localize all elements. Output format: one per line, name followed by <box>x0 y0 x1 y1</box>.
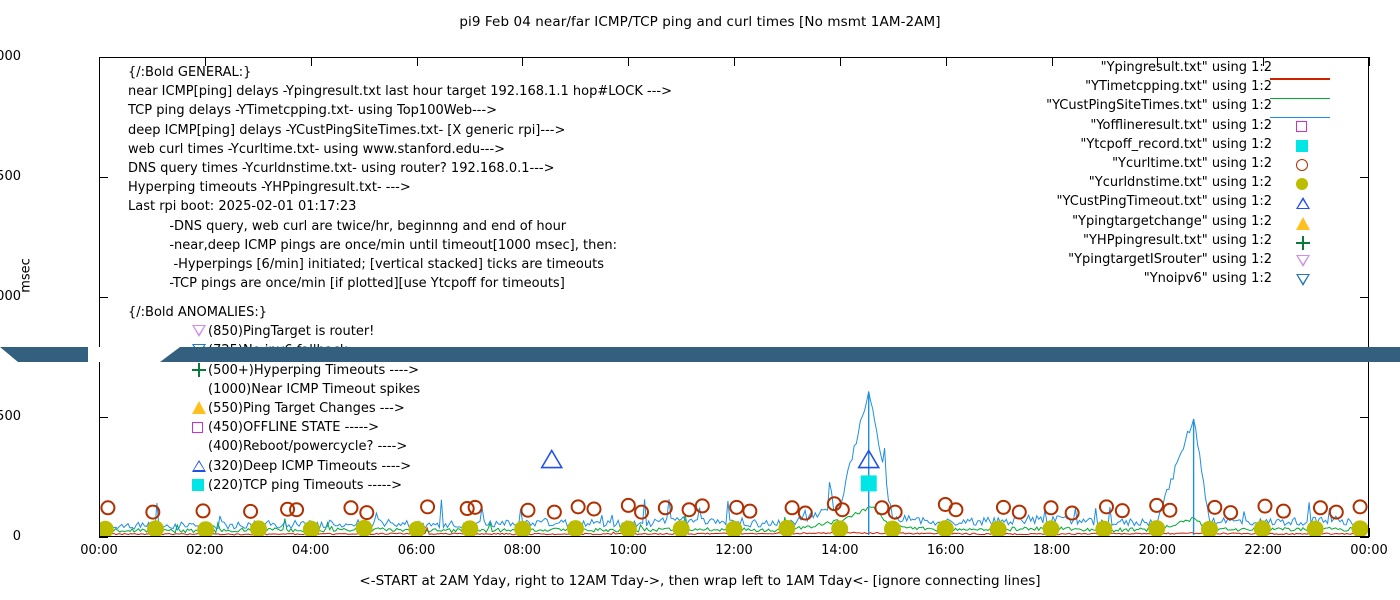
y-tick-label: 500 <box>0 409 21 424</box>
general-line: TCP ping delays -YTimetcpping.txt- using… <box>128 101 672 120</box>
general-line: -Hyperpings [6/min] initiated; [vertical… <box>128 255 672 274</box>
triangle-up-filled-icon <box>192 401 206 414</box>
data-marker-circle-filled <box>147 520 164 536</box>
general-line: DNS query times -Ycurldnstime.txt- using… <box>128 159 672 178</box>
legend-symbol <box>1270 118 1330 137</box>
legend-entry[interactable]: "Yofflineresult.txt" using 1:2 <box>960 118 1360 137</box>
general-line: Hyperping timeouts -YHPpingresult.txt- -… <box>128 178 672 197</box>
x-tick-label: 08:00 <box>482 543 562 558</box>
x-tick-label: 10:00 <box>588 543 668 558</box>
data-marker-circle-open <box>997 501 1010 514</box>
chart-legend: "Ypingresult.txt" using 1:2"YTimetcpping… <box>960 60 1360 290</box>
anomalies-heading: {/:Bold ANOMALIES:} <box>128 303 420 322</box>
chart-title: pi9 Feb 04 near/far ICMP/TCP ping and cu… <box>0 14 1400 30</box>
legend-symbol <box>1270 214 1330 233</box>
data-marker-circle-open <box>875 501 888 514</box>
y-tick-mark <box>99 537 108 538</box>
data-marker-circle-filled <box>1352 520 1368 536</box>
x-tick-label: 20:00 <box>1117 543 1197 558</box>
triangle-down-open-icon <box>1296 255 1310 267</box>
legend-entry[interactable]: "Ynoipv6" using 1:2 <box>960 271 1360 290</box>
data-marker-circle-open <box>1224 506 1237 519</box>
legend-entry[interactable]: "YCustPingSiteTimes.txt" using 1:2 <box>960 98 1360 117</box>
general-line: -near,deep ICMP pings are once/min until… <box>128 236 672 255</box>
data-marker-circle-open <box>1277 505 1290 518</box>
data-marker-circle-filled <box>1307 521 1324 536</box>
data-marker-circle-open <box>622 499 635 512</box>
data-marker-circle-open <box>290 503 303 516</box>
x-tick-label: 16:00 <box>906 543 986 558</box>
plus-icon <box>1296 236 1310 250</box>
data-marker-circle-open <box>1258 500 1271 513</box>
x-tick-label: 12:00 <box>694 543 774 558</box>
anomalies-annotation-block: {/:Bold ANOMALIES:} (850)PingTarget is r… <box>128 303 420 495</box>
general-line: web curl times -Ycurltime.txt- using www… <box>128 140 672 159</box>
chart-page: pi9 Feb 04 near/far ICMP/TCP ping and cu… <box>0 0 1400 600</box>
plus-icon <box>192 363 206 377</box>
data-marker-circle-filled <box>884 521 901 536</box>
legend-label: "YpingtargetISrouter" using 1:2 <box>1068 252 1272 267</box>
legend-entry[interactable]: "Ypingresult.txt" using 1:2 <box>960 60 1360 79</box>
data-marker-circle-open <box>344 501 357 514</box>
legend-symbol <box>1270 233 1330 252</box>
legend-label: "YHPpingresult.txt" using 1:2 <box>1083 233 1272 248</box>
data-marker-circle-open <box>1163 504 1176 517</box>
data-marker-square-filled <box>861 475 877 491</box>
data-marker-circle-open <box>730 501 743 514</box>
data-marker-circle-open <box>548 506 561 519</box>
data-marker-circle-open <box>889 506 902 519</box>
data-marker-circle-open <box>421 500 434 513</box>
legend-symbol <box>1270 252 1330 271</box>
data-marker-circle-open <box>1116 504 1129 517</box>
anomaly-symbol <box>192 478 204 497</box>
anomaly-text: (320)Deep ICMP Timeouts ----> <box>208 459 411 474</box>
data-marker-circle-filled <box>831 520 848 536</box>
anomaly-text: (725)No ipv6 fallback <box>208 343 347 358</box>
legend-label: "Ytcpoff_record.txt" using 1:2 <box>1080 137 1272 152</box>
circle-open-icon <box>1296 159 1308 171</box>
x-tick-label: 14:00 <box>800 543 880 558</box>
data-marker-circle-open <box>743 505 756 518</box>
data-marker-circle-open <box>197 504 210 517</box>
data-marker-circle-filled <box>1148 520 1165 536</box>
y-tick-mark <box>1360 537 1369 538</box>
anomaly-text: (1000)Near ICMP Timeout spikes <box>208 382 420 397</box>
legend-entry[interactable]: "YCustPingTimeout.txt" using 1:2 <box>960 194 1360 213</box>
data-marker-circle-open <box>786 501 799 514</box>
data-marker-circle-open <box>587 502 600 515</box>
data-marker-circle-filled <box>1043 520 1060 536</box>
data-marker-circle-open <box>244 505 257 518</box>
data-marker-circle-open <box>1354 500 1367 513</box>
anomaly-row: (1000)Near ICMP Timeout spikes <box>128 380 420 399</box>
legend-label: "Ycurldnstime.txt" using 1:2 <box>1089 175 1272 190</box>
legend-label: "YTimetcpping.txt" using 1:2 <box>1085 79 1272 94</box>
x-axis-title: <-START at 2AM Yday, right to 12AM Tday-… <box>0 573 1400 589</box>
x-tick-label: 22:00 <box>1223 543 1303 558</box>
circle-filled-icon <box>1296 178 1308 190</box>
x-tick-mark <box>1369 57 1370 66</box>
square-open-icon <box>192 422 203 433</box>
data-marker-circle-open <box>469 501 482 514</box>
legend-symbol <box>1270 137 1330 156</box>
data-marker-circle-filled <box>356 520 373 536</box>
legend-symbol <box>1270 98 1330 117</box>
data-marker-circle-open <box>360 506 373 519</box>
anomaly-row: (850)PingTarget is router! <box>128 322 420 341</box>
anomaly-text: (400)Reboot/powercycle? ----> <box>208 439 407 454</box>
x-tick-label: 00:00 <box>1329 543 1400 558</box>
x-tick-mark <box>1369 528 1370 537</box>
data-marker-circle-filled <box>567 520 584 536</box>
square-filled-icon <box>192 479 204 491</box>
x-tick-label: 02:00 <box>165 543 245 558</box>
triangle-up-filled-icon <box>1296 217 1310 230</box>
legend-symbol <box>1270 60 1330 79</box>
legend-entry[interactable]: "Ycurltime.txt" using 1:2 <box>960 156 1360 175</box>
anomaly-text: (220)TCP ping Timeouts -----> <box>208 478 402 493</box>
triangle-down-open-blue-icon <box>192 344 206 356</box>
legend-label: "Ycurltime.txt" using 1:2 <box>1112 156 1272 171</box>
anomaly-row: (400)Reboot/powercycle? ----> <box>128 437 420 456</box>
data-marker-circle-filled <box>197 521 214 536</box>
legend-symbol <box>1270 194 1330 213</box>
data-marker-circle-open <box>683 503 696 516</box>
data-marker-circle-open <box>1045 501 1058 514</box>
triangle-down-open-blue-icon <box>1296 274 1310 286</box>
legend-entry[interactable]: "Ypingtargetchange" using 1:2 <box>960 214 1360 233</box>
legend-symbol <box>1270 156 1330 175</box>
anomaly-row: (500+)Hyperping Timeouts ----> <box>128 361 420 380</box>
legend-entry[interactable]: "Ytcpoff_record.txt" using 1:2 <box>960 137 1360 156</box>
x-tick-label: 04:00 <box>271 543 351 558</box>
legend-entry[interactable]: "YHPpingresult.txt" using 1:2 <box>960 233 1360 252</box>
anomaly-row: (725)No ipv6 fallback <box>128 341 420 360</box>
data-marker-circle-open <box>101 501 114 514</box>
general-heading: {/:Bold GENERAL:} <box>128 63 672 82</box>
data-marker-triangle-up-open <box>542 451 562 468</box>
data-marker-circle-filled <box>250 520 267 536</box>
general-annotation-block: {/:Bold GENERAL:}near ICMP[ping] delays … <box>128 63 672 293</box>
y-tick-label: 0 <box>0 529 21 544</box>
data-marker-circle-filled <box>514 521 531 536</box>
legend-symbol <box>1270 271 1330 290</box>
legend-symbol <box>1270 79 1330 98</box>
x-tick-label: 18:00 <box>1012 543 1092 558</box>
legend-entry[interactable]: "YTimetcpping.txt" using 1:2 <box>960 79 1360 98</box>
triangle-up-open-icon <box>1296 197 1310 209</box>
legend-label: "Ynoipv6" using 1:2 <box>1144 271 1272 286</box>
data-marker-circle-open <box>521 504 534 517</box>
general-line: Last rpi boot: 2025-02-01 01:17:23 <box>128 197 672 216</box>
data-marker-circle-open <box>1208 501 1221 514</box>
legend-label: "Ypingresult.txt" using 1:2 <box>1101 60 1272 75</box>
anomaly-row: (550)Ping Target Changes ---> <box>128 399 420 418</box>
legend-label: "Ypingtargetchange" using 1:2 <box>1072 214 1272 229</box>
legend-symbol <box>1270 175 1330 194</box>
data-marker-circle-open <box>1100 500 1113 513</box>
square-filled-icon <box>1296 140 1308 152</box>
data-marker-circle-open <box>572 500 585 513</box>
data-marker-circle-open <box>696 499 709 512</box>
data-marker-circle-open <box>1013 506 1026 519</box>
x-tick-label: 06:00 <box>377 543 457 558</box>
anomaly-row: (220)TCP ping Timeouts -----> <box>128 476 420 495</box>
anomaly-text: (450)OFFLINE STATE -----> <box>208 420 379 435</box>
x-tick-label: 00:00 <box>59 543 139 558</box>
general-line: deep ICMP[ping] delays -YCustPingSiteTim… <box>128 121 672 140</box>
triangle-down-open-icon <box>192 325 206 337</box>
legend-label: "YCustPingSiteTimes.txt" using 1:2 <box>1046 98 1272 113</box>
data-marker-circle-open <box>635 506 648 519</box>
legend-entry[interactable]: "Ycurldnstime.txt" using 1:2 <box>960 175 1360 194</box>
general-line: -DNS query, web curl are twice/hr, begin… <box>128 217 672 236</box>
general-line: -TCP pings are once/min [if plotted][use… <box>128 274 672 293</box>
anomaly-text: (500+)Hyperping Timeouts ----> <box>208 363 419 378</box>
anomaly-text: (850)PingTarget is router! <box>208 324 374 339</box>
y-tick-label: 1500 <box>0 169 21 184</box>
legend-entry[interactable]: "YpingtargetISrouter" using 1:2 <box>960 252 1360 271</box>
data-marker-circle-open <box>949 503 962 516</box>
data-marker-circle-open <box>1314 501 1327 514</box>
legend-label: "YCustPingTimeout.txt" using 1:2 <box>1057 194 1272 209</box>
legend-label: "Yofflineresult.txt" using 1:2 <box>1090 118 1272 133</box>
y-tick-label: 1000 <box>0 289 21 304</box>
general-line: near ICMP[ping] delays -Ypingresult.txt … <box>128 82 672 101</box>
anomaly-text: (550)Ping Target Changes ---> <box>208 401 405 416</box>
y-tick-label: 2000 <box>0 49 21 64</box>
data-marker-circle-open <box>1150 499 1163 512</box>
data-marker-circle-filled <box>100 521 114 536</box>
anomaly-row: (450)OFFLINE STATE -----> <box>128 418 420 437</box>
anomaly-row: (320)Deep ICMP Timeouts ----> <box>128 457 420 476</box>
data-marker-circle-open <box>1066 507 1079 520</box>
square-open-icon <box>1296 121 1307 132</box>
triangle-up-open-icon <box>192 460 206 472</box>
